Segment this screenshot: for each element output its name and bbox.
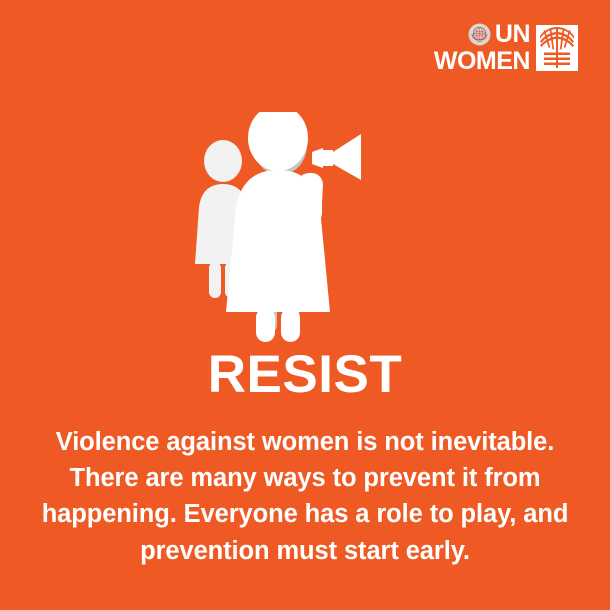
front-figure-with-megaphone-icon: [226, 112, 361, 342]
un-globe-laurel-emblem-icon: [468, 23, 491, 46]
illustration-three-women-with-megaphone: [0, 112, 610, 342]
poster-canvas: UN WOMEN: [0, 0, 610, 610]
logo-text-women: WOMEN: [434, 49, 530, 74]
body-copy: Violence against women is not inevitable…: [0, 424, 610, 569]
logo-text-un: UN: [495, 22, 530, 47]
logo-wordmark: UN WOMEN: [434, 22, 530, 74]
logo-line-un: UN: [468, 22, 530, 47]
page-title: RESIST: [0, 348, 610, 401]
un-women-logo[interactable]: UN WOMEN: [434, 22, 578, 74]
un-women-brand-mark-icon: [536, 25, 578, 71]
megaphone-cone-icon: [333, 134, 361, 180]
figures-group-icon: [190, 112, 420, 342]
